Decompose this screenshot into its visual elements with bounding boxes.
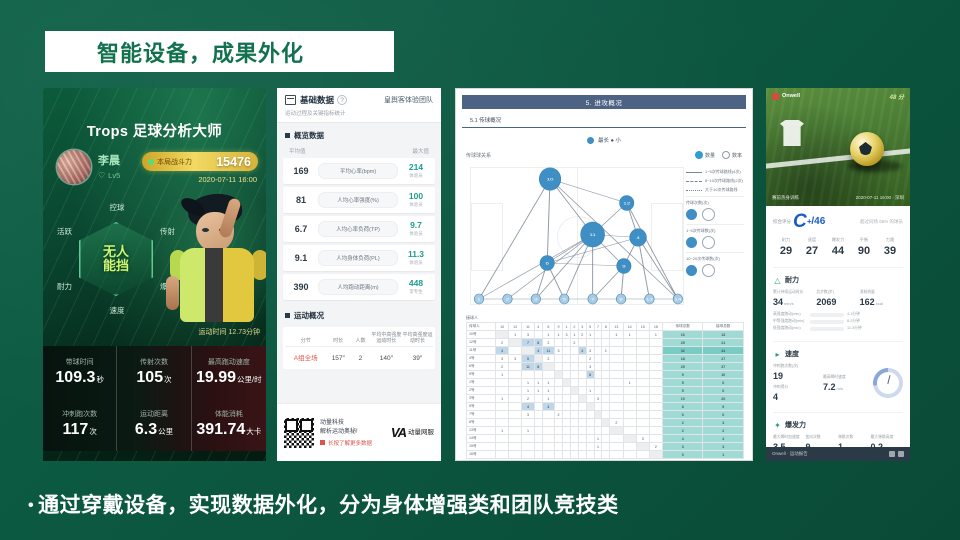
endurance-icon: △ — [773, 276, 782, 285]
power-label: 本局战斗力 — [157, 157, 192, 167]
radio-rate[interactable]: 数率 — [722, 151, 742, 159]
user-level-row: ♡ Lv5 — [98, 171, 120, 180]
matrix-row: 16号01 — [467, 451, 744, 459]
intensity-bars: 高强度跑动(min) 4.1分钟 中等强度跑动(min) 8.2分钟 低强度跑动… — [773, 312, 903, 331]
bar-row: 低强度跑动(min) 11.3分钟 — [773, 326, 903, 331]
legend-size-scale: 最长 ● 小 — [456, 136, 752, 144]
logo-mark: VA — [391, 425, 406, 440]
matrix-row: 2号111156 — [467, 387, 744, 395]
metric-item: 冲刺跑次数(次) 19 冲刺得分 4 — [773, 364, 823, 402]
legend-circle-filled-icon — [686, 265, 697, 276]
jersey-icon — [780, 120, 804, 146]
stats-grid: 带球时间 109.3秒 传射次数 105次 最高跑动速度 19.99公里/时 冲… — [43, 346, 266, 451]
toggle-label: 传球球关系 — [466, 152, 491, 159]
legend-group-caption: 1~5次传球数(次) — [686, 228, 744, 234]
metric-row: 9.1 人均身体负荷(PL) 11.3 体验员 — [283, 245, 435, 271]
legend-group-caption: 10~20次传球数(次) — [686, 256, 744, 262]
banner-title: 5. 进攻概况 — [586, 97, 623, 107]
metric-item: 最高瞬时速度 7.2m/s — [823, 375, 873, 392]
metric-max-sub: 体验员 — [403, 173, 429, 179]
stat-label: 传射次数 — [140, 357, 168, 367]
motion-table-row: A组全场 157″ 2 140″ 39″ — [285, 347, 433, 364]
legend-size-label: 最长 ● 小 — [598, 136, 621, 144]
square-bullet-icon — [285, 313, 290, 318]
explosive-icon: ✦ — [773, 421, 782, 430]
slide-caption: •通过穿戴设备，实现数据外化，分为身体增强类和团队竞技类 — [28, 489, 928, 519]
kpi-item: 平衡90 — [851, 237, 877, 257]
matrix-row: 7号3266 — [467, 411, 744, 419]
stat-value: 391.74大卡 — [196, 422, 261, 440]
metric-max: 448 — [403, 279, 429, 288]
legend-line-dotted-icon — [686, 190, 702, 191]
svg-text:9: 9 — [622, 265, 626, 269]
user-level: Lv5 — [108, 171, 120, 180]
th-duration: 时长 — [326, 336, 350, 346]
metric-max-sub: 体验员 — [403, 260, 429, 266]
radio-icon — [722, 151, 730, 159]
metric-name-pill: 人均心率负荷(TP) — [318, 221, 398, 237]
character-time-label: 运动时间 12.73分钟 — [199, 327, 260, 337]
col-avg-label: 平均值 — [289, 147, 306, 155]
question-icon[interactable]: ? — [337, 95, 347, 105]
metric-max: 100 — [403, 192, 429, 201]
stat-item: 运动距离 6.3公里 — [117, 399, 191, 452]
panel-basic-data-report: 基础数据 ? 皇舆客体验团队 运动过程及关键指标统计 概览数据 平均值 最大值 … — [277, 88, 441, 461]
power-value: 15476 — [216, 155, 251, 169]
svg-text:4: 4 — [636, 236, 640, 240]
stat-label: 最高跑动速度 — [208, 357, 250, 367]
matrix-row: 13号1122 — [467, 427, 744, 435]
navbar-label: Onwell · 运动报告 — [772, 451, 808, 457]
matrix-row: 12号278222521 — [467, 339, 744, 347]
metric-avg: 169 — [289, 166, 313, 176]
metric-item: 累计持续运动时长 34min/s — [773, 290, 816, 307]
metric-row: 81 人均心率强度(%) 100 体验员 — [283, 187, 435, 213]
matrix-row: 4号335221827 — [467, 355, 744, 363]
th-section: 分节 — [285, 336, 326, 346]
bullet-icon: • — [28, 497, 34, 514]
grade-rating-text: 超过同场 65% 的球员 — [860, 219, 903, 225]
grade-row: 综合评分 C + /46 超过同场 65% 的球员 — [773, 212, 903, 231]
matrix-row: 3号12131020 — [467, 395, 744, 403]
stat-value: 105次 — [136, 370, 171, 388]
avatar — [57, 150, 91, 184]
section-explosive: ✦ 爆发力 — [773, 412, 903, 430]
col-max-label: 最大值 — [412, 147, 429, 155]
kpi-row: 耐力29 速度27 爆发力44 平衡90 力量39 — [773, 237, 903, 257]
pass-relation-toggle: 传球球关系 数量 数率 — [466, 151, 742, 159]
motion-table: 分节 时长 人数 平均中高强度运动时长 平均高强度运动时长 A组全场 157″ … — [283, 327, 435, 369]
panel-mobile-report: Onwell 48 分 赛前热身训练 2020-07-11 16:00 · 深圳… — [766, 88, 910, 461]
stat-value: 109.3秒 — [55, 370, 104, 388]
bottom-navbar: Onwell · 运动报告 — [766, 447, 910, 461]
kpi-item: 耐力29 — [773, 237, 799, 257]
section-overview-title: 概览数据 — [277, 123, 441, 145]
document-icon — [285, 95, 296, 105]
matrix-row: 6号211832537 — [467, 363, 744, 371]
stat-label: 带球时间 — [66, 357, 94, 367]
page-title: 智能设备，成果外化 — [97, 36, 304, 68]
grade-letter: C — [793, 212, 807, 231]
stat-item: 最高跑动速度 19.99公里/时 — [192, 346, 266, 399]
metric-max: 214 — [403, 163, 429, 172]
report-title: 基础数据 — [300, 94, 334, 106]
metric-item: 消耗热量 162kcal — [860, 290, 903, 307]
kpi-item: 力量39 — [877, 237, 903, 257]
power-badge: 本局战斗力 15476 — [142, 152, 258, 171]
stat-label: 冲刺跑次数 — [62, 409, 97, 419]
svg-text:13: 13 — [646, 298, 653, 302]
caption-text: 通过穿戴设备，实现数据外化，分为身体增强类和团队竞技类 — [38, 494, 619, 517]
stat-item: 冲刺跑次数 117次 — [43, 399, 117, 452]
speed-gauge-icon — [873, 368, 903, 398]
logo-word: 动量网服 — [408, 429, 434, 437]
metric-row: 6.7 人均心率负荷(TP) 9.7 体验员 — [283, 216, 435, 242]
footer-line1: 动量科技 — [320, 419, 372, 428]
radar-label-4: 耐力 — [57, 281, 72, 292]
metric-max-sub: 李专生 — [403, 289, 429, 295]
metric-max: 9.7 — [403, 221, 429, 230]
legend-line-dashed-icon — [686, 181, 702, 182]
legend-circle-filled-icon — [686, 209, 697, 220]
photo-caption-right: 2020-07-11 16:00 · 深圳 — [856, 195, 904, 201]
matrix-row: 1号111156 — [467, 379, 744, 387]
team-name: 皇舆客体验团队 — [384, 95, 433, 105]
matrix-row: 8号223 — [467, 419, 744, 427]
stat-item: 体能消耗 391.74大卡 — [192, 399, 266, 452]
square-bullet-icon — [285, 133, 290, 138]
svg-text:10: 10 — [547, 178, 554, 182]
radar-center-line2: 能挡 — [103, 259, 129, 273]
metric-avg: 81 — [289, 195, 313, 205]
legend-line-solid-icon — [686, 172, 702, 173]
motion-table-header: 分节 时长 人数 平均中高强度运动时长 平均高强度运动时长 — [285, 330, 433, 347]
menu-icon[interactable] — [898, 451, 904, 457]
radio-count[interactable]: 数量 — [695, 151, 715, 159]
heart-icon: ♡ — [98, 171, 105, 180]
network-legend: 1~5次传球路线(4次) 6~10次传球路线(2次) 大于10次传球路线 传球次… — [686, 169, 744, 277]
matrix-row: 14号1344 — [467, 435, 744, 443]
brand-name: Onwell — [782, 93, 800, 99]
user-block: 李晨 ♡ Lv5 — [57, 150, 120, 184]
stat-item: 带球时间 109.3秒 — [43, 346, 117, 399]
kpi-item: 速度27 — [799, 237, 825, 257]
matrix-row: 9号18910 — [467, 371, 744, 379]
bar-row: 高强度跑动(min) 4.1分钟 — [773, 312, 903, 317]
metric-name-pill: 人均心率强度(%) — [318, 192, 398, 208]
matrix-corner-top: 接球人 — [466, 315, 478, 321]
th-midhigh: 平均中高强度运动时长 — [371, 330, 402, 346]
player-avatar-3d — [162, 192, 266, 342]
photo-caption-left: 赛前热身训练 — [772, 195, 799, 201]
metric-avg: 6.7 — [289, 224, 313, 234]
football-icon — [850, 132, 884, 166]
status-dot-icon — [148, 159, 154, 165]
svg-text:5: 5 — [563, 298, 567, 302]
matrix-row: 11号441134313244 — [467, 347, 744, 355]
pass-matrix: 接球人 传球人10121146912357813141516传球总数接球总数10… — [466, 315, 744, 459]
bar-row: 中等强度跑动(min) 8.2分钟 — [773, 319, 903, 324]
matrix-row: 10号131131211111613 — [467, 331, 744, 339]
svg-text:11: 11 — [589, 233, 596, 237]
panel-attack-analysis: 5. 进攻概况 5.1 传球概况 最长 ● 小 传球球关系 数量 数率 1012… — [455, 88, 753, 461]
matrix-table: 传球人10121146912357813141516传球总数接球总数10号131… — [466, 322, 744, 459]
app-title: Trops 足球分析大师 — [43, 120, 266, 141]
legend-circle-empty-icon — [702, 236, 715, 249]
title-banner: 智能设备，成果外化 — [45, 31, 394, 72]
metric-max: 11.3 — [403, 250, 429, 259]
legend-circle-empty-icon — [702, 264, 715, 277]
metric-max-sub: 体验员 — [403, 202, 429, 208]
metric-name-pill: 人均跑动距离(m) — [318, 279, 398, 295]
metric-item: 总步数(步) 2069 — [816, 290, 859, 307]
metric-name-pill: 人均身体负荷(PL) — [318, 250, 398, 266]
radar-label-5: 活跃 — [57, 226, 72, 237]
svg-text:12: 12 — [623, 202, 630, 206]
score-badge: 48 分 — [890, 92, 904, 101]
svg-text:8: 8 — [619, 298, 623, 302]
kpi-item: 爆发力44 — [825, 237, 851, 257]
legend-dot-icon — [587, 137, 594, 144]
stat-item: 传射次数 105次 — [117, 346, 191, 399]
legend-circle-empty-icon — [702, 208, 715, 221]
stat-label: 体能消耗 — [215, 409, 243, 419]
section-endurance: △ 耐力 — [773, 267, 903, 285]
legend-circle-filled-icon — [686, 237, 697, 248]
brand-badge: Onwell — [772, 93, 800, 100]
pass-network-diagram: 1012114691235781314 1~5次传球路线(4次) 6~10次传球… — [462, 161, 746, 311]
metric-name-pill: 平均心率(bpm) — [318, 163, 398, 179]
metric-max-sub: 体验员 — [403, 231, 429, 237]
radio-icon — [695, 151, 703, 159]
matrix-row: 5号4489 — [467, 403, 744, 411]
section-banner: 5. 进攻概况 — [462, 95, 746, 109]
svg-text:7: 7 — [591, 298, 595, 302]
footer-cta[interactable]: 长按了解更多数据 — [320, 439, 372, 447]
metric-row: 390 人均跑动距离(m) 448 李专生 — [283, 274, 435, 300]
stat-value: 117次 — [63, 422, 97, 440]
metric-row: 169 平均心率(bpm) 214 体验员 — [283, 158, 435, 184]
photo-topbar: Onwell 48 分 — [766, 88, 910, 104]
section-motion-title: 运动概况 — [277, 303, 441, 325]
section-speed: ▸ 速度 — [773, 341, 903, 359]
th-high: 平均高强度运动时长 — [402, 330, 433, 346]
qr-code-icon[interactable] — [284, 418, 314, 448]
footer-line2: 解析运动奥秘! — [320, 428, 372, 437]
svg-text:14: 14 — [674, 298, 681, 302]
radar-label-0: 控球 — [110, 202, 125, 213]
radar-center-line1: 无人 — [103, 245, 129, 259]
metric-avg: 9.1 — [289, 253, 313, 263]
panel-trops-app: Trops 足球分析大师 李晨 ♡ Lv5 本局战斗力 15476 2020-0… — [43, 88, 266, 461]
svg-text:3: 3 — [534, 298, 538, 302]
radar-hexagon: 无人 能挡 — [79, 222, 153, 296]
share-icon[interactable] — [889, 451, 895, 457]
grade-label: 综合评分 — [773, 219, 791, 225]
svg-text:2: 2 — [506, 298, 510, 302]
svg-text:6: 6 — [545, 262, 549, 266]
th-count: 人数 — [350, 336, 371, 346]
stat-value: 19.99公里/时 — [196, 370, 262, 388]
report-footer: 动量科技 解析运动奥秘! 长按了解更多数据 VA 动量网服 — [277, 403, 441, 461]
matrix-row: 15号1233 — [467, 443, 744, 451]
column-headers: 平均值 最大值 — [277, 145, 441, 158]
section-subtitle: 5.1 传球概况 — [462, 112, 746, 128]
grade-score: /46 — [811, 216, 825, 227]
report-subtitle: 运动过程及关键指标统计 — [285, 109, 433, 117]
svg-text:1: 1 — [477, 298, 481, 302]
stat-value: 6.3公里 — [135, 422, 173, 440]
speed-icon: ▸ — [773, 350, 782, 359]
stat-label: 运动距离 — [140, 409, 168, 419]
user-name: 李晨 — [98, 155, 120, 168]
brand-mark-icon — [772, 93, 779, 100]
square-bullet-icon — [320, 440, 325, 445]
metric-avg: 390 — [289, 282, 313, 292]
legend-group-caption: 传球次数(次) — [686, 200, 744, 206]
hero-photo: Onwell 48 分 赛前热身训练 2020-07-11 16:00 · 深圳 — [766, 88, 910, 206]
report-header: 基础数据 ? 皇舆客体验团队 运动过程及关键指标统计 — [277, 88, 441, 123]
radar-label-3: 速度 — [110, 305, 125, 316]
brand-logo: VA 动量网服 — [391, 425, 434, 440]
